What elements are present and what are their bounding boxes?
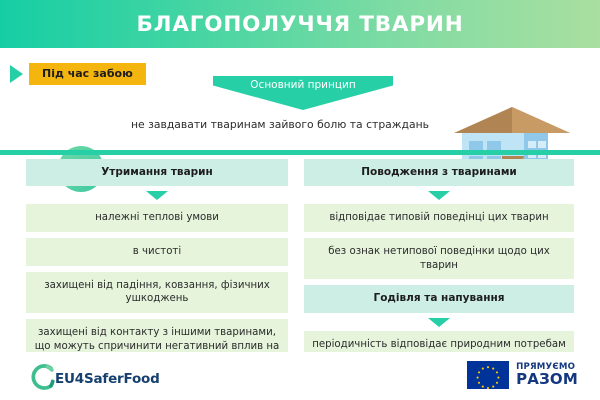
- eu-partner-logo-text: ПРЯМУЄМО РАЗОМ: [516, 363, 578, 388]
- circular-swoosh-icon: [28, 362, 58, 396]
- triangle-down-icon: [428, 318, 450, 327]
- eu4saferfood-logo: EU4SaferFood: [28, 362, 160, 396]
- stage-badge: Під час забою: [29, 63, 146, 85]
- item-box: належні теплові умови: [26, 204, 288, 232]
- principle-text: не завдавати тваринам зайвого болю та ст…: [110, 118, 450, 131]
- eu-partner-logo: ПРЯМУЄМО РАЗОМ: [467, 361, 578, 389]
- eu-logo-line2: РАЗОМ: [516, 372, 578, 387]
- group-heading-housing: Утримання тварин: [26, 159, 288, 186]
- group-heading-feeding: Годівля та напування: [304, 285, 574, 312]
- eu-flag-icon: [467, 361, 509, 389]
- eu4saferfood-logo-text: EU4SaferFood: [55, 371, 160, 387]
- section-divider: [0, 150, 600, 155]
- item-box: захищені від падіння, ковзання, фізичних…: [26, 272, 288, 314]
- triangle-down-icon: [428, 191, 450, 200]
- stage-badge-row: Під час забою: [10, 63, 146, 85]
- footer: EU4SaferFood: [0, 352, 600, 400]
- group-heading-handling: Поводження з тваринами: [304, 159, 574, 186]
- item-box: відповідає типовій поведінці цих тварин: [304, 204, 574, 232]
- page-title: БЛАГОПОЛУЧЧЯ ТВАРИН: [0, 0, 600, 48]
- content-columns: Утримання тварин належні теплові умови в…: [0, 159, 600, 345]
- principle-banner: Основний принцип: [213, 76, 393, 110]
- principle-label: Основний принцип: [213, 79, 393, 91]
- column-handling: Поводження з тваринами відповідає типові…: [304, 159, 574, 345]
- item-box: в чистоті: [26, 238, 288, 266]
- top-section: Під час забою: [0, 48, 600, 152]
- item-box: без ознак нетипової поведінки щодо цих т…: [304, 238, 574, 280]
- triangle-right-icon: [10, 65, 23, 83]
- triangle-down-icon: [146, 191, 168, 200]
- column-housing: Утримання тварин належні теплові умови в…: [26, 159, 288, 345]
